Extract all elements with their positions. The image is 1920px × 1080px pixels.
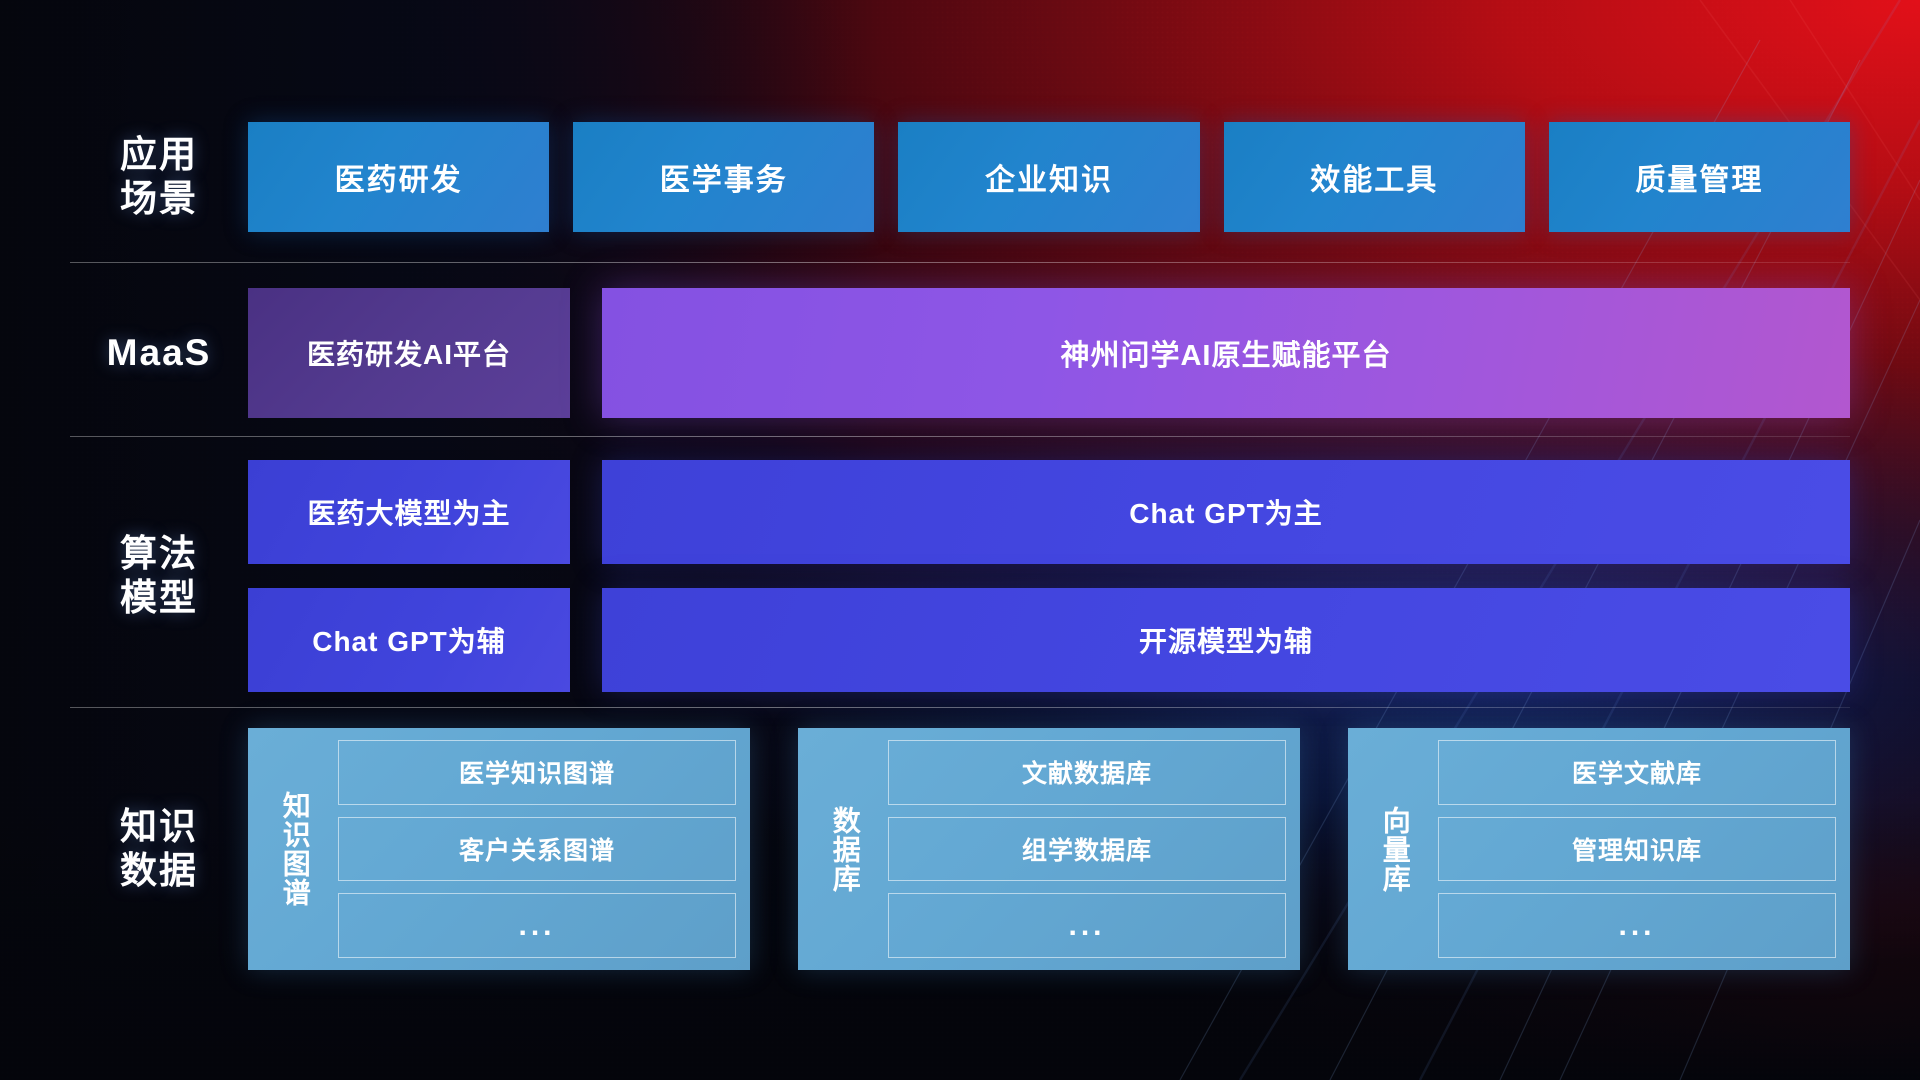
knowledge-item[interactable]: 客户关系图谱 [338, 817, 736, 882]
row-body-knowledge-data: 知识图谱 医学知识图谱 客户关系图谱 ... 数据库 文献数据库 组学数据库 .… [248, 728, 1850, 970]
row-algorithm-models: 算法 模型 医药大模型为主 Chat GPT为主 Chat GPT为辅 开源模型… [70, 460, 1850, 692]
scenario-box[interactable]: 质量管理 [1549, 122, 1850, 232]
row-maas: MaaS 医药研发AI平台 神州问学AI原生赋能平台 [70, 288, 1850, 418]
knowledge-item[interactable]: 医学文献库 [1438, 740, 1836, 805]
knowledge-group-label: 数据库 [808, 740, 882, 958]
knowledge-item[interactable]: 医学知识图谱 [338, 740, 736, 805]
row-label-application-scenarios: 应用 场景 [70, 133, 248, 220]
knowledge-item[interactable]: 组学数据库 [888, 817, 1286, 882]
divider-maas-algorithm [70, 436, 1850, 437]
knowledge-item-more[interactable]: ... [888, 893, 1286, 958]
row-body-maas: 医药研发AI平台 神州问学AI原生赋能平台 [248, 288, 1850, 418]
knowledge-group-label: 向量库 [1358, 740, 1432, 958]
knowledge-item-more[interactable]: ... [338, 893, 736, 958]
maas-box-list: 医药研发AI平台 神州问学AI原生赋能平台 [248, 288, 1850, 418]
knowledge-item-list: 文献数据库 组学数据库 ... [882, 740, 1286, 958]
scenario-box[interactable]: 企业知识 [898, 122, 1199, 232]
maas-platform-box-left[interactable]: 医药研发AI平台 [248, 288, 570, 418]
row-knowledge-data: 知识 数据 知识图谱 医学知识图谱 客户关系图谱 ... 数据库 [70, 728, 1850, 970]
scenario-box[interactable]: 医药研发 [248, 122, 549, 232]
diagram-grid: 应用 场景 医药研发 医学事务 企业知识 效能工具 质量管理 MaaS 医药研发… [0, 0, 1920, 1080]
maas-platform-box-right[interactable]: 神州问学AI原生赋能平台 [602, 288, 1850, 418]
knowledge-item-list: 医学知识图谱 客户关系图谱 ... [332, 740, 736, 958]
architecture-diagram: 应用 场景 医药研发 医学事务 企业知识 效能工具 质量管理 MaaS 医药研发… [0, 0, 1920, 1080]
knowledge-item[interactable]: 文献数据库 [888, 740, 1286, 805]
row-label-maas: MaaS [70, 331, 248, 375]
scenario-box[interactable]: 医学事务 [573, 122, 874, 232]
knowledge-group: 数据库 文献数据库 组学数据库 ... [798, 728, 1300, 970]
knowledge-group-list: 知识图谱 医学知识图谱 客户关系图谱 ... 数据库 文献数据库 组学数据库 .… [248, 728, 1850, 970]
row-body-application-scenarios: 医药研发 医学事务 企业知识 效能工具 质量管理 [248, 122, 1850, 232]
algorithm-box-grid: 医药大模型为主 Chat GPT为主 Chat GPT为辅 开源模型为辅 [248, 460, 1850, 692]
row-label-algorithm-models: 算法 模型 [70, 532, 248, 619]
knowledge-group: 知识图谱 医学知识图谱 客户关系图谱 ... [248, 728, 750, 970]
knowledge-item[interactable]: 管理知识库 [1438, 817, 1836, 882]
algorithm-box-left[interactable]: Chat GPT为辅 [248, 588, 570, 692]
algorithm-box-left[interactable]: 医药大模型为主 [248, 460, 570, 564]
scenario-box-list: 医药研发 医学事务 企业知识 效能工具 质量管理 [248, 122, 1850, 232]
knowledge-group: 向量库 医学文献库 管理知识库 ... [1348, 728, 1850, 970]
divider-algorithm-knowledge [70, 707, 1850, 708]
divider-scenarios-maas [70, 262, 1850, 263]
row-label-knowledge-data: 知识 数据 [70, 805, 248, 892]
algorithm-row: Chat GPT为辅 开源模型为辅 [248, 588, 1850, 692]
algorithm-row: 医药大模型为主 Chat GPT为主 [248, 460, 1850, 564]
knowledge-group-label: 知识图谱 [258, 740, 332, 958]
row-body-algorithm-models: 医药大模型为主 Chat GPT为主 Chat GPT为辅 开源模型为辅 [248, 460, 1850, 692]
algorithm-box-right[interactable]: 开源模型为辅 [602, 588, 1850, 692]
algorithm-box-right[interactable]: Chat GPT为主 [602, 460, 1850, 564]
knowledge-item-more[interactable]: ... [1438, 893, 1836, 958]
scenario-box[interactable]: 效能工具 [1224, 122, 1525, 232]
row-application-scenarios: 应用 场景 医药研发 医学事务 企业知识 效能工具 质量管理 [70, 122, 1850, 232]
knowledge-item-list: 医学文献库 管理知识库 ... [1432, 740, 1836, 958]
